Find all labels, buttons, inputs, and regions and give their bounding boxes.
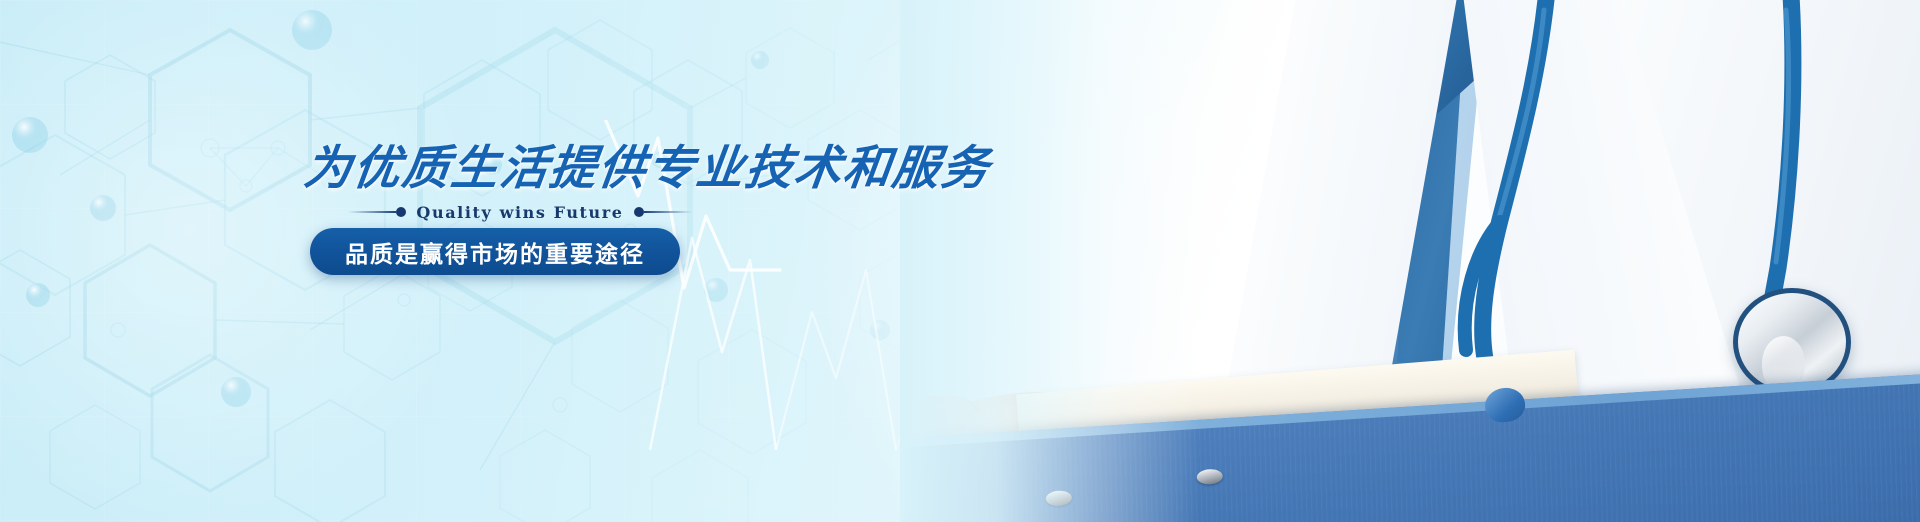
divider-dot-right-icon (634, 207, 644, 217)
divider-dot-left-icon (396, 207, 406, 217)
banner-content: 为优质生活提供专业技术和服务 Quality wins Future 品质是赢得… (0, 0, 1100, 522)
slogan-pill[interactable]: 品质是赢得市场的重要途径 (310, 228, 680, 275)
divider-line-left (348, 211, 396, 213)
tagline-english: Quality wins Future (406, 203, 633, 222)
page-title: 为优质生活提供专业技术和服务 (301, 129, 995, 198)
slogan-pill-label: 品质是赢得市场的重要途径 (345, 235, 645, 269)
tagline-divider: Quality wins Future (348, 200, 692, 224)
divider-line-right (644, 211, 692, 213)
hero-banner: 为优质生活提供专业技术和服务 Quality wins Future 品质是赢得… (0, 0, 1920, 522)
